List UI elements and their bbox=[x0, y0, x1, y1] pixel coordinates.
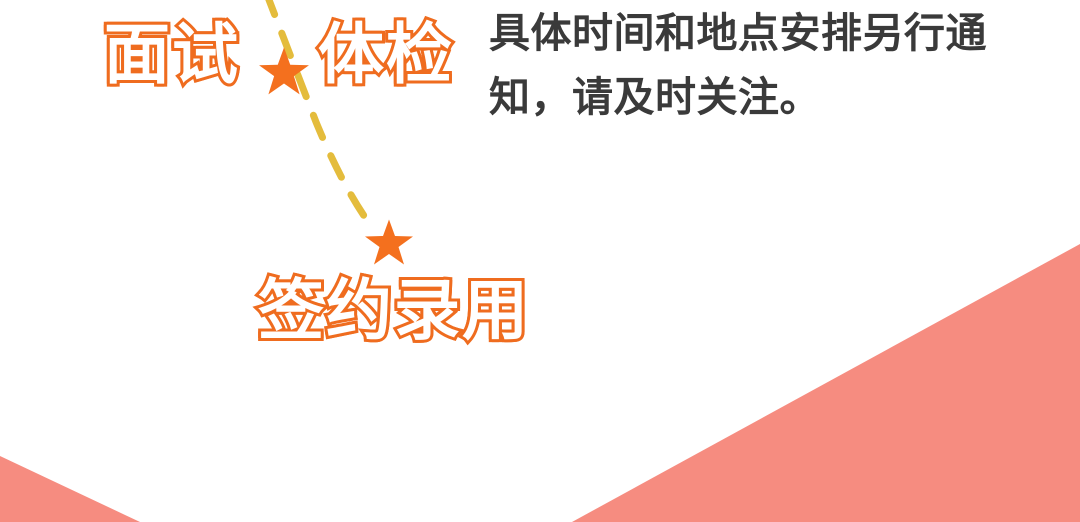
star-icon-lower bbox=[364, 218, 414, 268]
wedge-right-shape bbox=[572, 244, 1080, 522]
stage-label-medical: 体检 bbox=[318, 22, 454, 88]
wedge-left-shape bbox=[0, 456, 140, 522]
star-icon-upper bbox=[258, 46, 310, 98]
notice-line-1: 具体时间和地点安排另行通 bbox=[489, 1, 1019, 65]
poster-canvas: 面试 体检 签约录用 具体时间和地点安排另行通 知，请及时关注。 bbox=[0, 0, 1080, 522]
triangle-wedge-icon-right bbox=[480, 232, 1080, 522]
stage-label-interview: 面试 bbox=[104, 22, 240, 88]
star-lower-shape bbox=[365, 220, 413, 265]
notice-line-2: 知，请及时关注。 bbox=[489, 65, 1019, 129]
stage-label-signing: 签约录用 bbox=[258, 278, 530, 344]
star-upper-shape bbox=[259, 48, 309, 95]
triangle-wedge-icon-left bbox=[0, 422, 150, 522]
notice-paragraph: 具体时间和地点安排另行通 知，请及时关注。 bbox=[489, 1, 1019, 129]
